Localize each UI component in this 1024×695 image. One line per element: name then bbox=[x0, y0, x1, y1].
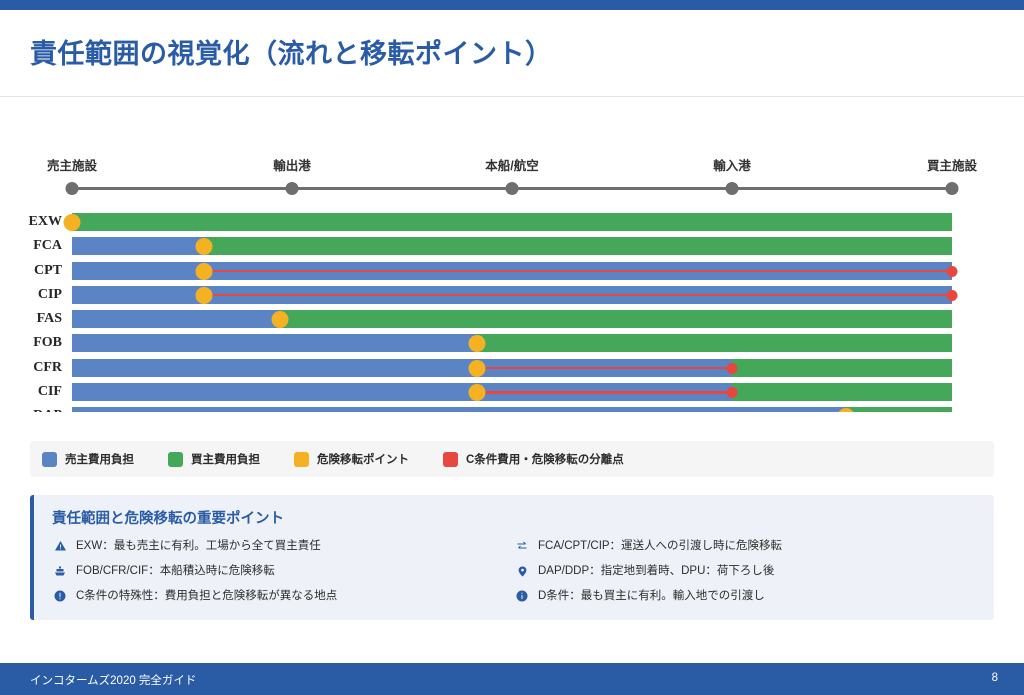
key-points-left-column: EXW：最も売主に有利。工場から全て買主責任FOB/CFR/CIF：本船積込時に… bbox=[52, 539, 514, 614]
warning-triangle-icon bbox=[52, 539, 68, 553]
key-point-text: DAP/DDP：指定地到着時、DPU：荷下ろし後 bbox=[538, 564, 774, 578]
term-row: DAP bbox=[0, 406, 1024, 412]
ship-icon bbox=[52, 564, 68, 578]
term-label-cif: CIF bbox=[0, 382, 62, 402]
timeline-dot-3 bbox=[726, 182, 739, 195]
seller-cost-segment bbox=[72, 407, 846, 412]
bar-track bbox=[72, 262, 952, 280]
risk-transfer-marker bbox=[64, 214, 81, 231]
risk-transfer-marker bbox=[468, 384, 485, 401]
key-point-text: D条件：最も買主に有利。輸入地での引渡し bbox=[538, 589, 765, 603]
term-row: FCA bbox=[0, 236, 1024, 260]
term-row: CFR bbox=[0, 358, 1024, 382]
key-point-text: EXW：最も売主に有利。工場から全て買主責任 bbox=[76, 539, 321, 553]
legend-label: 危険移転ポイント bbox=[317, 451, 409, 467]
term-label-fas: FAS bbox=[0, 309, 62, 329]
key-points-title: 責任範囲と危険移転の重要ポイント bbox=[52, 507, 976, 528]
term-label-fca: FCA bbox=[0, 236, 62, 256]
info-circle-icon bbox=[514, 589, 530, 603]
legend-label: 買主費用負担 bbox=[191, 451, 260, 467]
buyer-cost-segment bbox=[280, 310, 952, 328]
incoterms-responsibility-chart: 売主施設輸出港本船/航空輸入港買主施設 EXWFCACPTCIPFASFOBCF… bbox=[0, 100, 1024, 412]
footer-bar: インコタームズ2020 完全ガイド 8 bbox=[0, 663, 1024, 695]
risk-transfer-marker bbox=[196, 263, 213, 280]
bar-track bbox=[72, 310, 952, 328]
cost-risk-split-line bbox=[477, 391, 732, 394]
timeline-dot-4 bbox=[946, 182, 959, 195]
bar-track bbox=[72, 334, 952, 352]
term-label-exw: EXW bbox=[0, 212, 62, 232]
timeline-labels: 売主施設輸出港本船/航空輸入港買主施設 bbox=[0, 155, 1024, 175]
legend-item-3: C条件費用・危険移転の分離点 bbox=[443, 451, 624, 467]
key-point-text: FCA/CPT/CIP：運送人への引渡し時に危険移転 bbox=[538, 539, 782, 553]
bar-track bbox=[72, 359, 952, 377]
buyer-cost-segment bbox=[732, 383, 952, 401]
key-points-right-column: FCA/CPT/CIP：運送人への引渡し時に危険移転DAP/DDP：指定地到着時… bbox=[514, 539, 976, 614]
title-divider bbox=[0, 96, 1024, 97]
footer-title: インコタームズ2020 完全ガイド bbox=[30, 672, 196, 688]
bar-track bbox=[72, 286, 952, 304]
buyer-cost-segment bbox=[477, 334, 952, 352]
key-point-row: EXW：最も売主に有利。工場から全て買主責任 bbox=[52, 539, 514, 553]
term-label-dap: DAP bbox=[0, 406, 62, 412]
buyer-cost-segment bbox=[204, 237, 952, 255]
timeline-label-0: 売主施設 bbox=[47, 155, 97, 174]
term-row: CPT bbox=[0, 261, 1024, 285]
legend-item-2: 危険移転ポイント bbox=[294, 451, 409, 467]
risk-transfer-marker bbox=[196, 287, 213, 304]
page-title: 責任範囲の視覚化（流れと移転ポイント） bbox=[30, 32, 553, 71]
timeline-label-2: 本船/航空 bbox=[485, 155, 538, 174]
buyer-cost-segment bbox=[72, 213, 952, 231]
legend-label: C条件費用・危険移転の分離点 bbox=[466, 451, 624, 467]
timeline-dot-0 bbox=[66, 182, 79, 195]
timeline-label-1: 輸出港 bbox=[273, 155, 311, 174]
term-row: CIP bbox=[0, 285, 1024, 309]
timeline-label-4: 買主施設 bbox=[927, 155, 977, 174]
cost-transfer-point-dot bbox=[727, 363, 738, 374]
exclamation-circle-icon bbox=[52, 589, 68, 603]
risk-transfer-marker bbox=[468, 360, 485, 377]
term-row: EXW bbox=[0, 212, 1024, 236]
legend-swatch bbox=[42, 452, 57, 467]
term-rows: EXWFCACPTCIPFASFOBCFRCIFDAP bbox=[0, 212, 1024, 412]
key-point-text: C条件の特殊性：費用負担と危険移転が異なる地点 bbox=[76, 589, 337, 603]
term-label-fob: FOB bbox=[0, 333, 62, 353]
key-point-row: FOB/CFR/CIF：本船積込時に危険移転 bbox=[52, 564, 514, 578]
seller-cost-segment bbox=[72, 237, 204, 255]
term-label-cfr: CFR bbox=[0, 358, 62, 378]
top-accent-bar bbox=[0, 0, 1024, 10]
legend-swatch bbox=[294, 452, 309, 467]
cost-risk-split-line bbox=[204, 294, 952, 297]
bar-track bbox=[72, 237, 952, 255]
cost-transfer-point-dot bbox=[947, 266, 958, 277]
risk-transfer-marker bbox=[468, 335, 485, 352]
legend-swatch bbox=[443, 452, 458, 467]
cost-transfer-point-dot bbox=[947, 290, 958, 301]
term-label-cip: CIP bbox=[0, 285, 62, 305]
term-row: FAS bbox=[0, 309, 1024, 333]
bar-track bbox=[72, 407, 952, 412]
risk-transfer-marker bbox=[271, 311, 288, 328]
chart-legend: 売主費用負担買主費用負担危険移転ポイントC条件費用・危険移転の分離点 bbox=[30, 441, 994, 477]
term-row: FOB bbox=[0, 333, 1024, 357]
timeline-dot-1 bbox=[286, 182, 299, 195]
bar-track bbox=[72, 213, 952, 231]
key-points-box: 責任範囲と危険移転の重要ポイント EXW：最も売主に有利。工場から全て買主責任F… bbox=[30, 495, 994, 620]
key-point-row: FCA/CPT/CIP：運送人への引渡し時に危険移転 bbox=[514, 539, 976, 553]
timeline-label-3: 輸入港 bbox=[713, 155, 751, 174]
seller-cost-segment bbox=[72, 334, 477, 352]
legend-label: 売主費用負担 bbox=[65, 451, 134, 467]
footer-page-number: 8 bbox=[992, 672, 998, 684]
transfer-arrows-icon bbox=[514, 539, 530, 553]
key-point-row: D条件：最も買主に有利。輸入地での引渡し bbox=[514, 589, 976, 603]
key-point-text: FOB/CFR/CIF：本船積込時に危険移転 bbox=[76, 564, 275, 578]
term-row: CIF bbox=[0, 382, 1024, 406]
timeline-dot-2 bbox=[506, 182, 519, 195]
bar-track bbox=[72, 383, 952, 401]
seller-cost-segment bbox=[72, 310, 280, 328]
buyer-cost-segment bbox=[846, 407, 952, 412]
map-pin-icon bbox=[514, 564, 530, 578]
cost-transfer-point-dot bbox=[727, 387, 738, 398]
buyer-cost-segment bbox=[732, 359, 952, 377]
cost-risk-split-line bbox=[477, 367, 732, 370]
key-point-row: DAP/DDP：指定地到着時、DPU：荷下ろし後 bbox=[514, 564, 976, 578]
legend-item-0: 売主費用負担 bbox=[42, 451, 134, 467]
risk-transfer-marker bbox=[196, 238, 213, 255]
cost-risk-split-line bbox=[204, 270, 952, 273]
legend-swatch bbox=[168, 452, 183, 467]
term-label-cpt: CPT bbox=[0, 261, 62, 281]
key-point-row: C条件の特殊性：費用負担と危険移転が異なる地点 bbox=[52, 589, 514, 603]
legend-item-1: 買主費用負担 bbox=[168, 451, 260, 467]
